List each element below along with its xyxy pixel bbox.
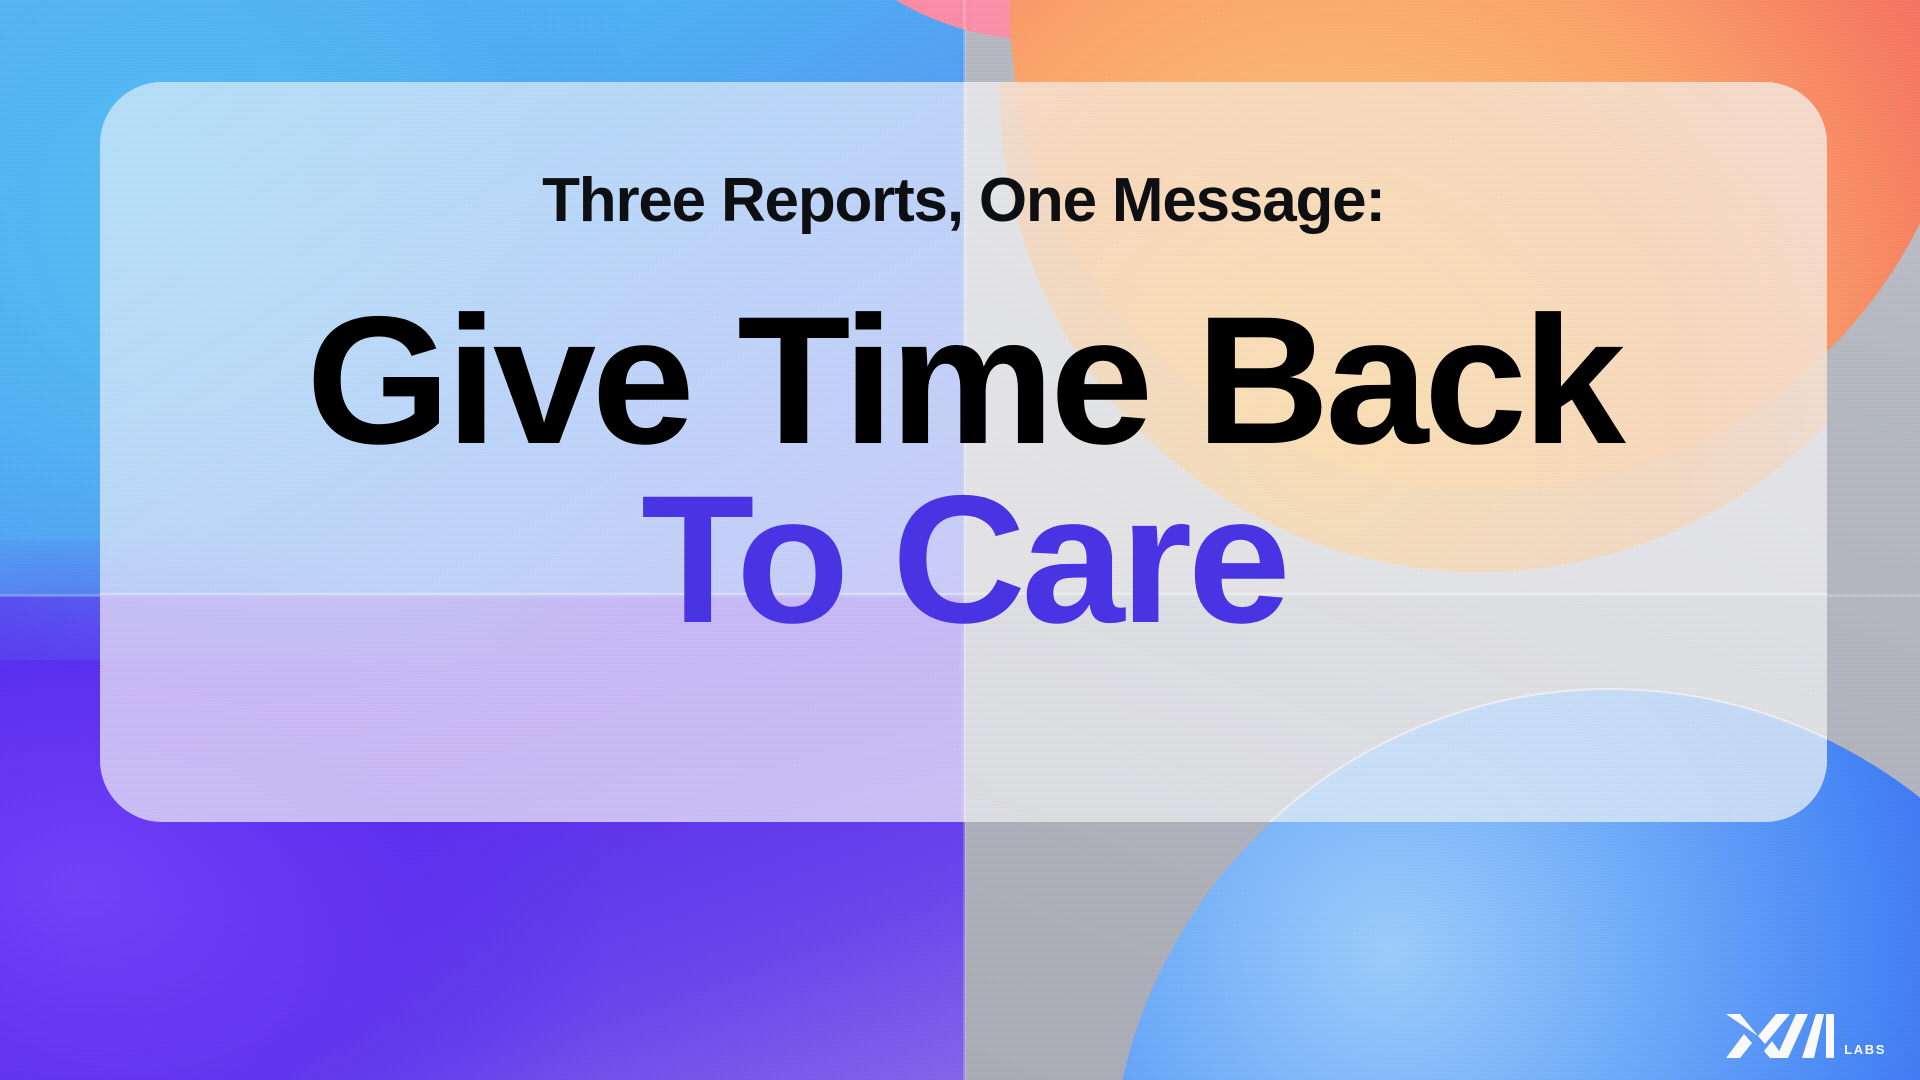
promo-graphic-canvas: Three Reports, One Message: Give Time Ba… bbox=[0, 0, 1920, 1080]
watermark-sub-label: LABS bbox=[1844, 1042, 1886, 1062]
eyebrow-text: Three Reports, One Message: bbox=[542, 170, 1385, 232]
headline: Give Time Back To Care bbox=[319, 294, 1608, 646]
card-content: Three Reports, One Message: Give Time Ba… bbox=[100, 82, 1827, 822]
headline-line-1: Give Time Back bbox=[306, 294, 1621, 467]
watermark: LABS bbox=[1724, 1010, 1886, 1062]
xyai-logo-icon bbox=[1724, 1010, 1840, 1062]
frosted-glass-card: Three Reports, One Message: Give Time Ba… bbox=[100, 82, 1827, 822]
headline-line-2: To Care bbox=[306, 473, 1621, 646]
